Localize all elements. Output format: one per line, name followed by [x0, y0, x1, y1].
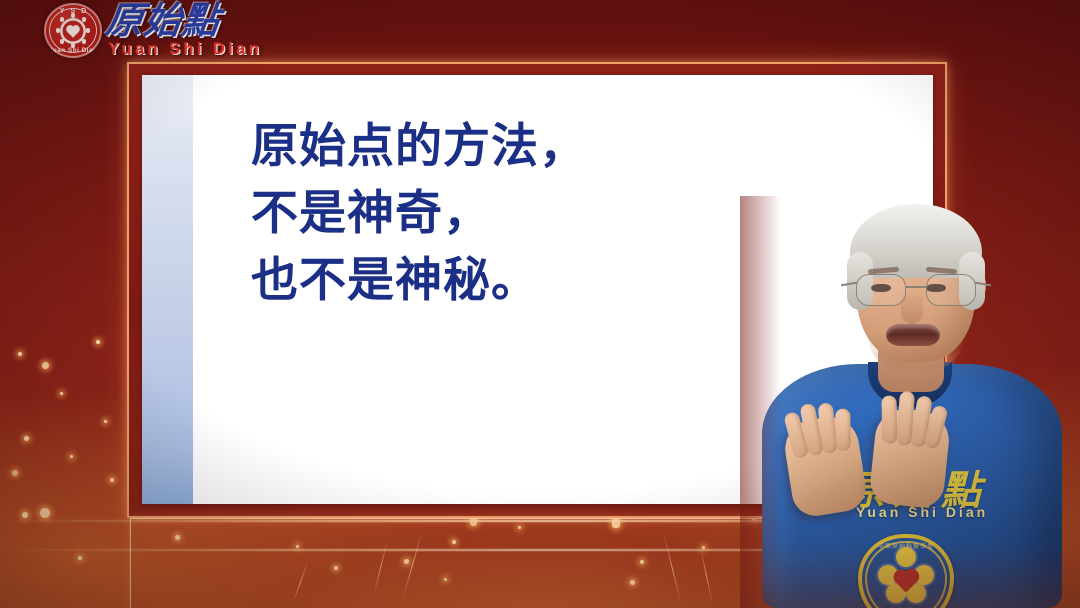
slide-text: 原始点的方法， 不是神奇， 也不是神秘。	[251, 113, 587, 314]
slide-accent-band	[142, 75, 193, 504]
slide-line-2: 不是神奇，	[251, 180, 587, 247]
slide-line-3: 也不是神秘。	[251, 247, 587, 314]
brand-logo: YSD Yuan Shi Dian 原始點 Yuan Shi Dian	[40, 0, 280, 62]
seal-arc-text: Yuan Shi Dian	[44, 47, 102, 54]
presenter-nose	[901, 292, 923, 324]
brand-title-cn: 原始點	[104, 1, 223, 41]
presenter-hand-right	[868, 406, 952, 509]
presenter: 原始點 Yuan Shi Dian 中華原始點醫學會	[740, 196, 1080, 608]
shirt-emblem-icon: 中華原始點醫學會	[858, 534, 954, 608]
presenter-mouth	[886, 324, 940, 346]
slide-line-1: 原始点的方法，	[251, 113, 587, 180]
seal-icon: YSD Yuan Shi Dian	[44, 3, 102, 58]
video-frame: 原始点的方法， 不是神奇， 也不是神秘。 原始點 Yuan Shi Dian 中…	[0, 0, 1080, 608]
brand-title-en: Yuan Shi Dian	[108, 40, 262, 59]
